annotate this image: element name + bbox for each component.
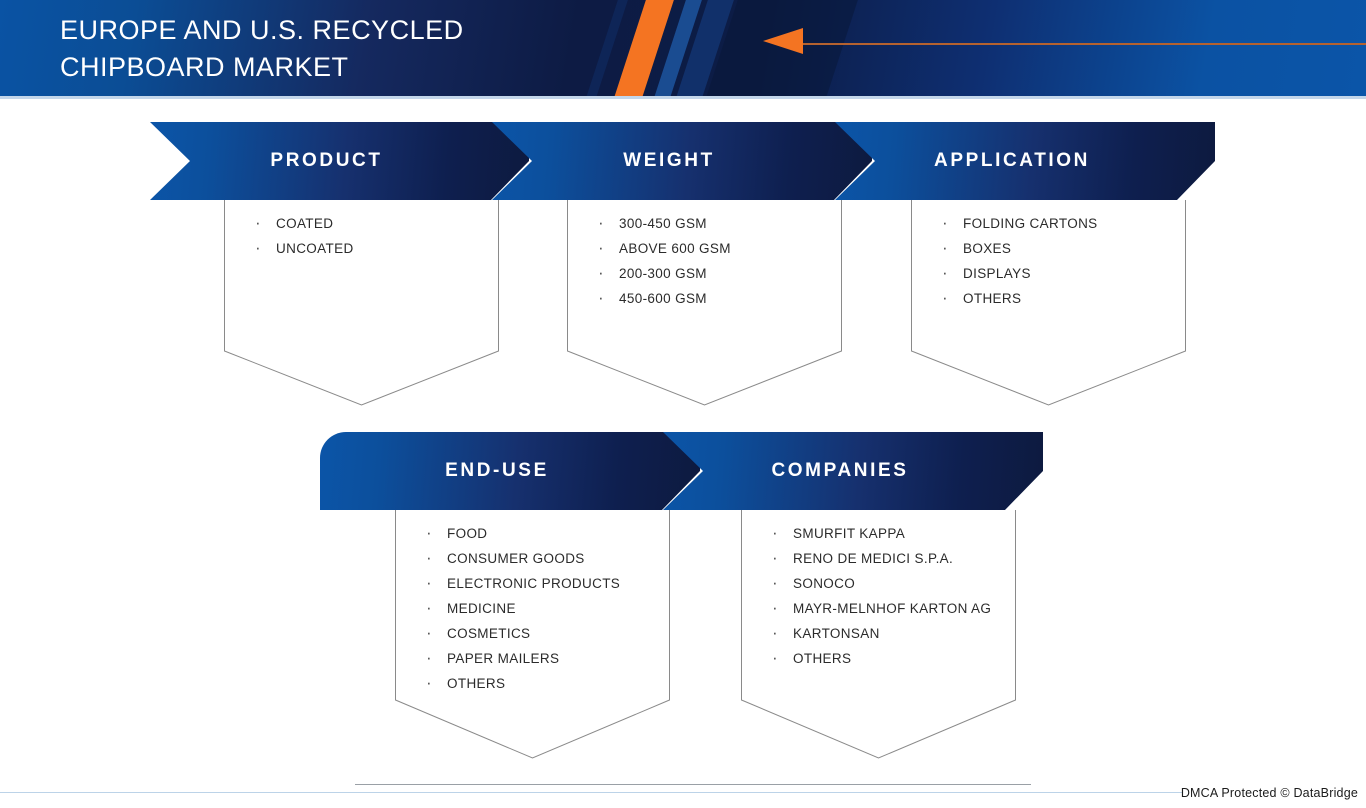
footer-credit: DMCA Protected © DataBridge xyxy=(1181,786,1358,800)
segment-list-end-use: FOODCONSUMER GOODSELECTRONIC PRODUCTSMED… xyxy=(423,521,662,696)
list-item: PAPER MAILERS xyxy=(423,646,662,671)
segment-list-companies: SMURFIT KAPPARENO DE MEDICI S.P.A.SONOCO… xyxy=(769,521,1008,671)
list-item: COSMETICS xyxy=(423,621,662,646)
list-item: FOOD xyxy=(423,521,662,546)
page-header: EUROPE AND U.S. RECYCLED CHIPBOARD MARKE… xyxy=(0,0,1366,96)
list-item: 300-450 GSM xyxy=(595,211,834,236)
list-item: ABOVE 600 GSM xyxy=(595,236,834,261)
list-item: CONSUMER GOODS xyxy=(423,546,662,571)
list-item: 200-300 GSM xyxy=(595,261,834,286)
list-item: SONOCO xyxy=(769,571,1008,596)
list-item: 450-600 GSM xyxy=(595,286,834,311)
segment-banner-product[interactable]: PRODUCT xyxy=(150,122,529,200)
segment-card-end-use: FOODCONSUMER GOODSELECTRONIC PRODUCTSMED… xyxy=(395,510,670,760)
list-item: MAYR-MELNHOF KARTON AG xyxy=(769,596,1008,621)
list-item: OTHERS xyxy=(769,646,1008,671)
list-item: KARTONSAN xyxy=(769,621,1008,646)
segment-label-companies: COMPANIES xyxy=(771,460,934,482)
header-bottom-divider xyxy=(0,96,1366,99)
segment-card-application: FOLDING CARTONSBOXESDISPLAYSOTHERS xyxy=(911,200,1186,406)
list-item: RENO DE MEDICI S.P.A. xyxy=(769,546,1008,571)
segment-label-product: PRODUCT xyxy=(270,150,408,172)
segment-card-weight: 300-450 GSMABOVE 600 GSM200-300 GSM450-6… xyxy=(567,200,842,406)
list-item: BOXES xyxy=(939,236,1178,261)
list-item: SMURFIT KAPPA xyxy=(769,521,1008,546)
segment-label-end-use: END-USE xyxy=(445,460,575,482)
segment-label-weight: WEIGHT xyxy=(623,150,741,172)
segment-card-product: COATEDUNCOATED xyxy=(224,200,499,406)
segment-list-weight: 300-450 GSMABOVE 600 GSM200-300 GSM450-6… xyxy=(595,211,834,311)
header-accent-line xyxy=(800,43,1366,45)
list-item: OTHERS xyxy=(939,286,1178,311)
page-title: EUROPE AND U.S. RECYCLED CHIPBOARD MARKE… xyxy=(60,12,464,86)
list-item: DISPLAYS xyxy=(939,261,1178,286)
segment-label-application: APPLICATION xyxy=(934,150,1116,172)
list-item: FOLDING CARTONS xyxy=(939,211,1178,236)
segment-banner-end-use[interactable]: END-USE xyxy=(320,432,700,510)
footer-divider-gray xyxy=(355,784,1031,785)
segment-card-companies: SMURFIT KAPPARENO DE MEDICI S.P.A.SONOCO… xyxy=(741,510,1016,760)
list-item: UNCOATED xyxy=(252,236,491,261)
footer-divider-blue xyxy=(0,792,1183,793)
left-arrow-icon xyxy=(763,28,803,54)
list-item: MEDICINE xyxy=(423,596,662,621)
segment-banner-weight[interactable]: WEIGHT xyxy=(492,122,872,200)
list-item: OTHERS xyxy=(423,671,662,696)
list-item: ELECTRONIC PRODUCTS xyxy=(423,571,662,596)
infographic-page: EUROPE AND U.S. RECYCLED CHIPBOARD MARKE… xyxy=(0,0,1366,808)
segment-banner-application[interactable]: APPLICATION xyxy=(835,122,1215,200)
list-item: COATED xyxy=(252,211,491,236)
segment-list-product: COATEDUNCOATED xyxy=(252,211,491,261)
segment-list-application: FOLDING CARTONSBOXESDISPLAYSOTHERS xyxy=(939,211,1178,311)
segment-banner-companies[interactable]: COMPANIES xyxy=(663,432,1043,510)
